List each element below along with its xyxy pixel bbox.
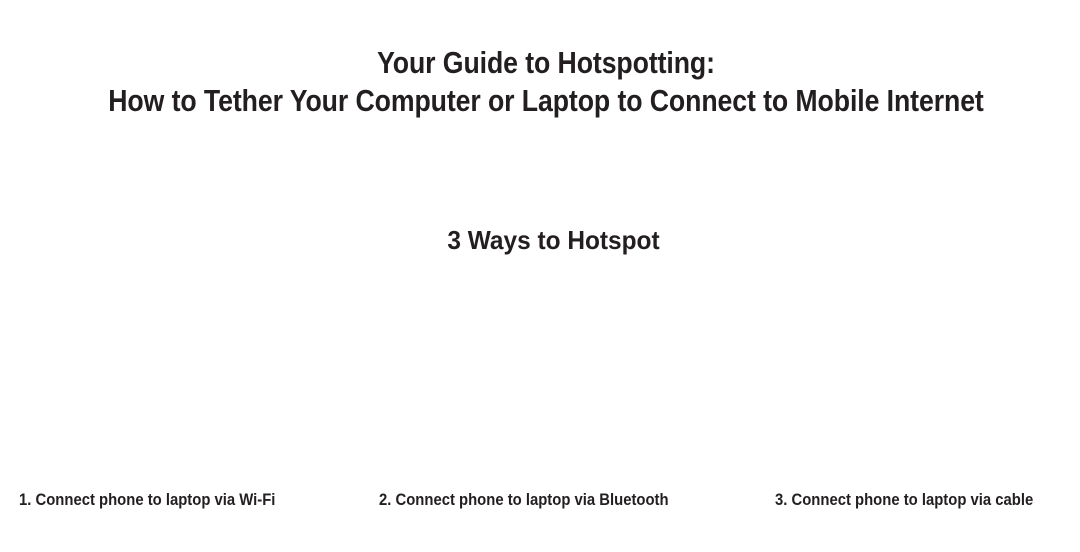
illustration-slot-bluetooth [379, 280, 705, 470]
page-title-line-1: Your Guide to Hotspotting: [76, 44, 1015, 82]
illustration-slot-cable [775, 280, 1063, 470]
illustration-slot-wifi [19, 280, 309, 470]
section-heading: 3 Ways to Hotspot [33, 224, 1074, 256]
page-title: Your Guide to Hotspotting: How to Tether… [0, 44, 1080, 120]
method-caption-cable: 3. Connect phone to laptop via cable [775, 489, 1033, 511]
illustration-band [0, 280, 1080, 470]
method-caption-wifi: 1. Connect phone to laptop via Wi-Fi [19, 489, 275, 511]
method-caption-bluetooth: 2. Connect phone to laptop via Bluetooth [379, 489, 669, 511]
page-title-line-2: How to Tether Your Computer or Laptop to… [76, 82, 1015, 120]
infographic-page: Your Guide to Hotspotting: How to Tether… [0, 0, 1080, 552]
